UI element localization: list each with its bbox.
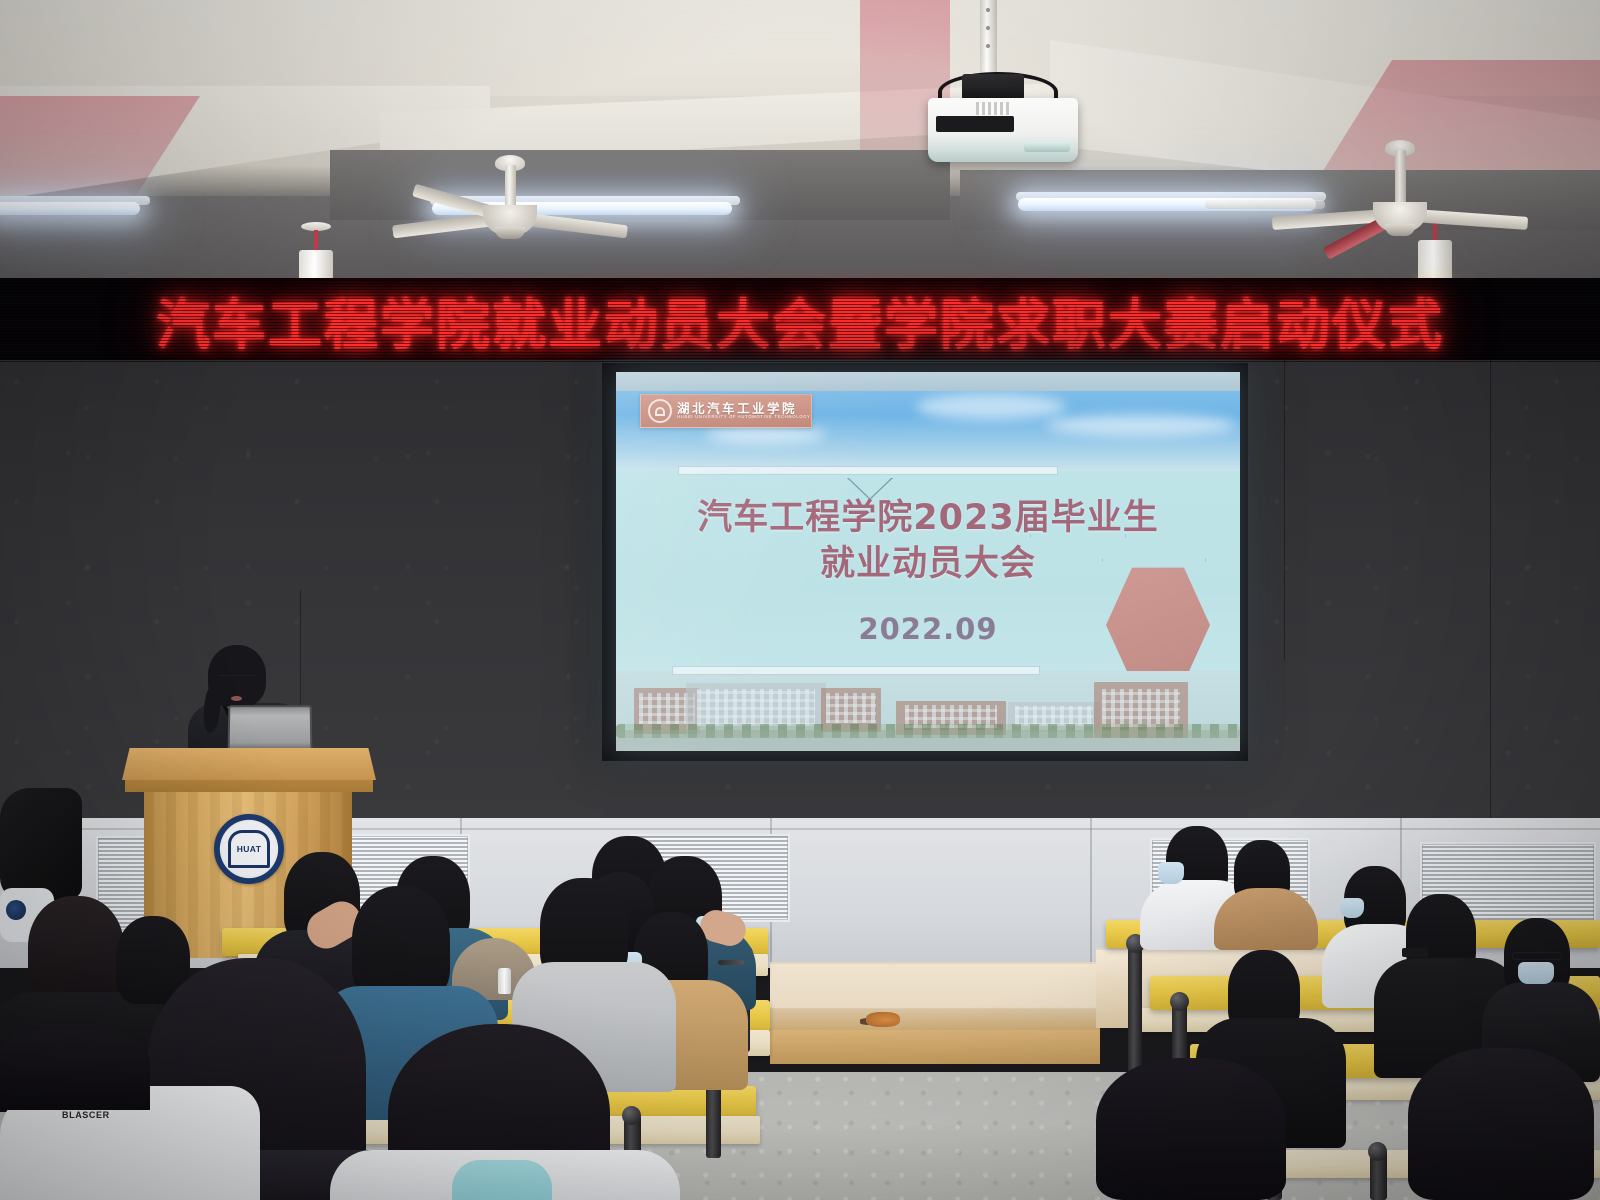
shirt-logo-text: BLASCER — [62, 1110, 110, 1120]
slide-accent-bar-top — [678, 466, 1058, 475]
audience-head — [28, 896, 124, 1006]
university-seal-icon — [648, 399, 672, 423]
projector-pole — [980, 0, 997, 78]
slide-accent-bar-bottom — [672, 666, 1040, 675]
led-banner: 汽车工程学院就业动员大会暨学院求职大赛启动仪式 — [0, 278, 1600, 362]
face-mask-icon — [1340, 898, 1364, 918]
projection-screen: 湖北汽车工业学院 HUBEI UNIVERSITY OF AUTOMOTIVE … — [616, 372, 1240, 751]
ceiling-slab — [0, 0, 1600, 96]
bench-knob — [1170, 992, 1189, 1011]
audience-head — [352, 886, 450, 1002]
slide-ground — [616, 730, 1240, 751]
presenter-mouth — [231, 696, 242, 701]
audience-head-foreground — [1408, 1048, 1594, 1200]
lectern-top — [122, 748, 376, 780]
face-mask-icon — [1158, 862, 1184, 884]
projector-vent — [976, 102, 1010, 115]
projector-bracket — [962, 74, 1024, 100]
presenter-glasses — [218, 675, 256, 683]
slide-vee-decor — [841, 478, 897, 500]
lectern-emblem-text: HUAT — [237, 844, 262, 854]
backpack-icon — [0, 788, 82, 900]
ceiling-projector — [928, 0, 1088, 174]
slide-cloud — [916, 394, 1066, 420]
fan-hub-cap-left — [495, 227, 525, 239]
lectern-emblem: HUAT — [214, 814, 284, 884]
wall-seam — [1090, 818, 1092, 968]
stage-step-front — [770, 1030, 1100, 1064]
slide-cloud — [706, 426, 826, 444]
lecture-hall-photo: 汽车工程学院就业动员大会暨学院求职大赛启动仪式 湖北汽车工业学院 HUBEI U… — [0, 0, 1600, 1200]
ceiling-fan-left — [410, 165, 610, 275]
spotlight-stem — [314, 230, 318, 252]
projector-lens — [1024, 142, 1070, 152]
slide-title-line-2: 就业动员大会 — [616, 544, 1240, 585]
wall-seam — [1490, 360, 1491, 830]
fluorescent-tube-1 — [0, 202, 140, 215]
stage-step — [770, 962, 1100, 1032]
ceiling — [0, 0, 1600, 300]
projection-screen-frame: 湖北汽车工业学院 HUBEI UNIVERSITY OF AUTOMOTIVE … — [602, 363, 1248, 761]
fan-hub-cap-right — [1385, 224, 1415, 236]
wall-seam — [1284, 360, 1285, 660]
slide-cloud — [1046, 414, 1236, 436]
water-bottle-icon — [498, 968, 511, 994]
bag-detail — [6, 900, 26, 920]
fan-rod-right — [1395, 150, 1406, 208]
slide-date: 2022.09 — [616, 612, 1240, 646]
slide-campus-photo — [616, 671, 1240, 751]
audience-torso — [1214, 888, 1318, 950]
slide-logo-en: HUBEI UNIVERSITY OF AUTOMOTIVE TECHNOLOG… — [677, 415, 811, 419]
phone-icon — [1402, 948, 1428, 957]
bench-knob — [622, 1106, 641, 1125]
collar-detail — [452, 1160, 552, 1200]
laptop-icon — [228, 705, 313, 751]
slide-top-bar — [616, 372, 1240, 391]
ceiling-fan-right — [1290, 150, 1510, 270]
audience-head — [0, 1030, 150, 1110]
step-object — [866, 1012, 900, 1027]
projector-ports — [936, 116, 1014, 132]
audience-head-foreground — [1096, 1058, 1286, 1200]
slide-title-line-1: 汽车工程学院2023届毕业生 — [616, 498, 1240, 539]
face-mask-icon — [1518, 962, 1554, 984]
bench-knob — [1368, 1142, 1387, 1161]
slide-university-logo: 湖北汽车工业学院 HUBEI UNIVERSITY OF AUTOMOTIVE … — [640, 394, 812, 428]
led-banner-text: 汽车工程学院就业动员大会暨学院求职大赛启动仪式 — [156, 281, 1444, 360]
pen-icon — [718, 960, 744, 965]
audience-glasses — [1512, 952, 1562, 960]
